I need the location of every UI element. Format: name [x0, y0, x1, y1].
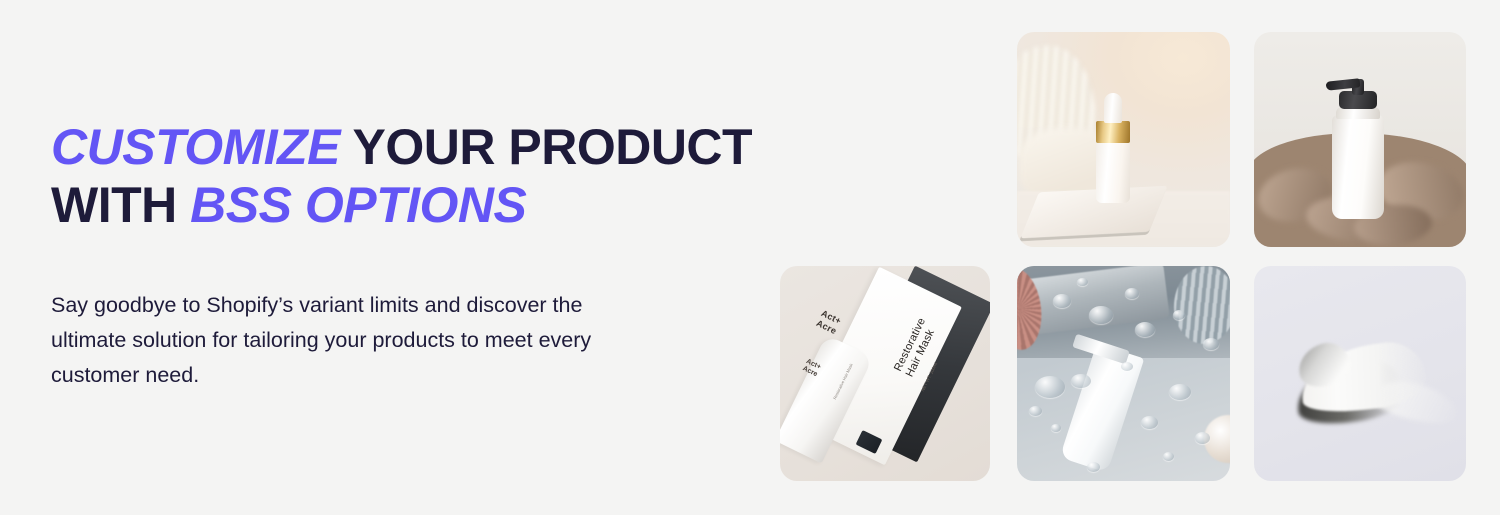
page-title: CUSTOMIZE YOUR PRODUCT: [51, 118, 751, 176]
dropper-bottle-body: [1096, 141, 1130, 203]
water-droplet: [1029, 406, 1042, 416]
headline-accent-customize: CUSTOMIZE: [51, 119, 340, 175]
water-droplet: [1169, 384, 1191, 400]
water-droplet: [1173, 310, 1185, 320]
gallery-card-pump-bottle-on-linen[interactable]: [1254, 32, 1466, 247]
headline-plain-your-product: YOUR PRODUCT: [340, 119, 752, 175]
water-droplet: [1163, 452, 1174, 461]
hero-subcopy: Say goodbye to Shopify’s variant limits …: [51, 288, 611, 393]
water-droplet: [1089, 306, 1113, 324]
gallery-card-wet-surface-tube[interactable]: [1017, 266, 1230, 481]
water-droplet: [1077, 278, 1088, 286]
dropper-cap-shape: [1104, 93, 1122, 123]
pump-bottle-body: [1332, 115, 1384, 219]
water-droplet: [1087, 462, 1100, 472]
gallery-card-serum-dropper-bottle[interactable]: [1017, 32, 1230, 247]
water-droplet: [1125, 288, 1139, 299]
gallery-card-act-acre-hair-mask[interactable]: Act+ Acre Restorative Hair Mask NET WT. …: [780, 266, 990, 481]
headline-accent-bss-options: BSS OPTIONS: [190, 177, 526, 233]
marble-slab-shape: [1020, 186, 1167, 239]
box-brand-label: Act+ Acre: [815, 308, 843, 336]
water-droplet: [1135, 322, 1155, 337]
page-title-line-2: WITH BSS OPTIONS: [51, 176, 751, 234]
water-droplet: [1035, 376, 1065, 398]
hero-banner: CUSTOMIZE YOUR PRODUCT WITH BSS OPTIONS …: [0, 0, 1500, 515]
water-droplet: [1203, 338, 1219, 350]
water-droplet: [1051, 424, 1061, 432]
water-droplet: [1121, 362, 1133, 371]
water-droplet: [1071, 374, 1091, 388]
gallery-card-cream-swatch[interactable]: [1254, 266, 1466, 481]
hero-copy: CUSTOMIZE YOUR PRODUCT WITH BSS OPTIONS: [51, 118, 751, 234]
water-droplet: [1141, 416, 1158, 429]
gold-collar-shape: [1096, 121, 1130, 143]
water-droplet: [1195, 432, 1210, 444]
headline-plain-with: WITH: [51, 177, 190, 233]
water-droplet: [1053, 294, 1071, 308]
